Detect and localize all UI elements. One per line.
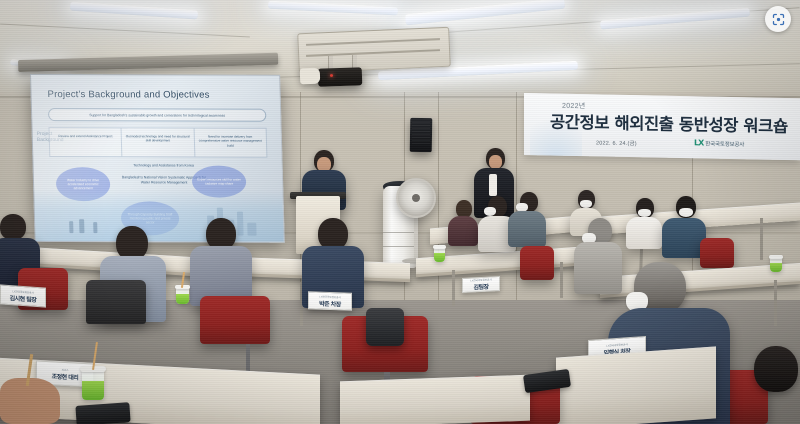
backpack xyxy=(366,308,404,346)
drink-cup xyxy=(434,248,445,262)
projector-lens xyxy=(300,68,321,85)
desk xyxy=(556,346,716,424)
drink-cup xyxy=(770,258,782,272)
chair xyxy=(520,246,554,280)
banner-headline: 공간정보 해외진출 동반성장 워크숍 xyxy=(550,108,798,137)
name-placard: LX한국국토정보공사 박준 차장 xyxy=(308,291,352,311)
slide-title: Project's Background and Objectives xyxy=(47,89,209,101)
drink-cup xyxy=(176,288,189,304)
placard-name: 박준 차장 xyxy=(319,298,341,308)
chair xyxy=(86,280,146,324)
conference-photo: Project's Background and Objectives Supp… xyxy=(0,0,800,424)
banner-logo: LX 한국국토정보공사 xyxy=(694,138,744,148)
smartphone[interactable] xyxy=(75,402,130,424)
desk xyxy=(340,375,530,424)
fan-hub xyxy=(412,194,420,202)
slide-cell: Need for increase delivery from comprehe… xyxy=(194,129,266,157)
slide-center-heading: Technology and Assistance from Korea xyxy=(118,163,210,169)
placard-name: 조정현 대리 xyxy=(52,371,79,381)
banner-date: 2022. 6. 24.(금) xyxy=(596,138,637,147)
slide-summary-pill: Support for Bangladesh's sustainable gro… xyxy=(48,108,266,122)
placard-name: 김시현 팀장 xyxy=(10,293,37,304)
placard-name: 김팀장 xyxy=(473,282,488,292)
slide-illustration xyxy=(34,189,284,242)
slide-columns: Review and extend Assistance Project Out… xyxy=(48,127,267,158)
drink-cup xyxy=(82,370,104,400)
speaker-grill xyxy=(412,122,430,146)
fan-pole xyxy=(414,216,418,260)
chair xyxy=(700,238,734,268)
lx-logo-text: 한국국토정보공사 xyxy=(705,139,744,148)
projection-screen: Project's Background and Objectives Supp… xyxy=(30,74,285,243)
name-placard: LX한국국토정보공사 김시현 팀장 xyxy=(0,284,46,307)
slide-cell: Outmoded technology and need for structu… xyxy=(122,128,195,156)
lx-logo-mark: LX xyxy=(694,138,703,147)
name-placard: LX한국국토정보공사 김팀장 xyxy=(462,276,500,293)
chair xyxy=(200,296,270,344)
event-banner: 2022년 공간정보 해외진출 동반성장 워크숍 2022. 6. 24.(금)… xyxy=(524,93,800,160)
ceiling-projector xyxy=(318,67,363,87)
lens-scan-icon[interactable] xyxy=(765,6,791,32)
slide-cell: Review and extend Assistance Project xyxy=(50,128,123,156)
